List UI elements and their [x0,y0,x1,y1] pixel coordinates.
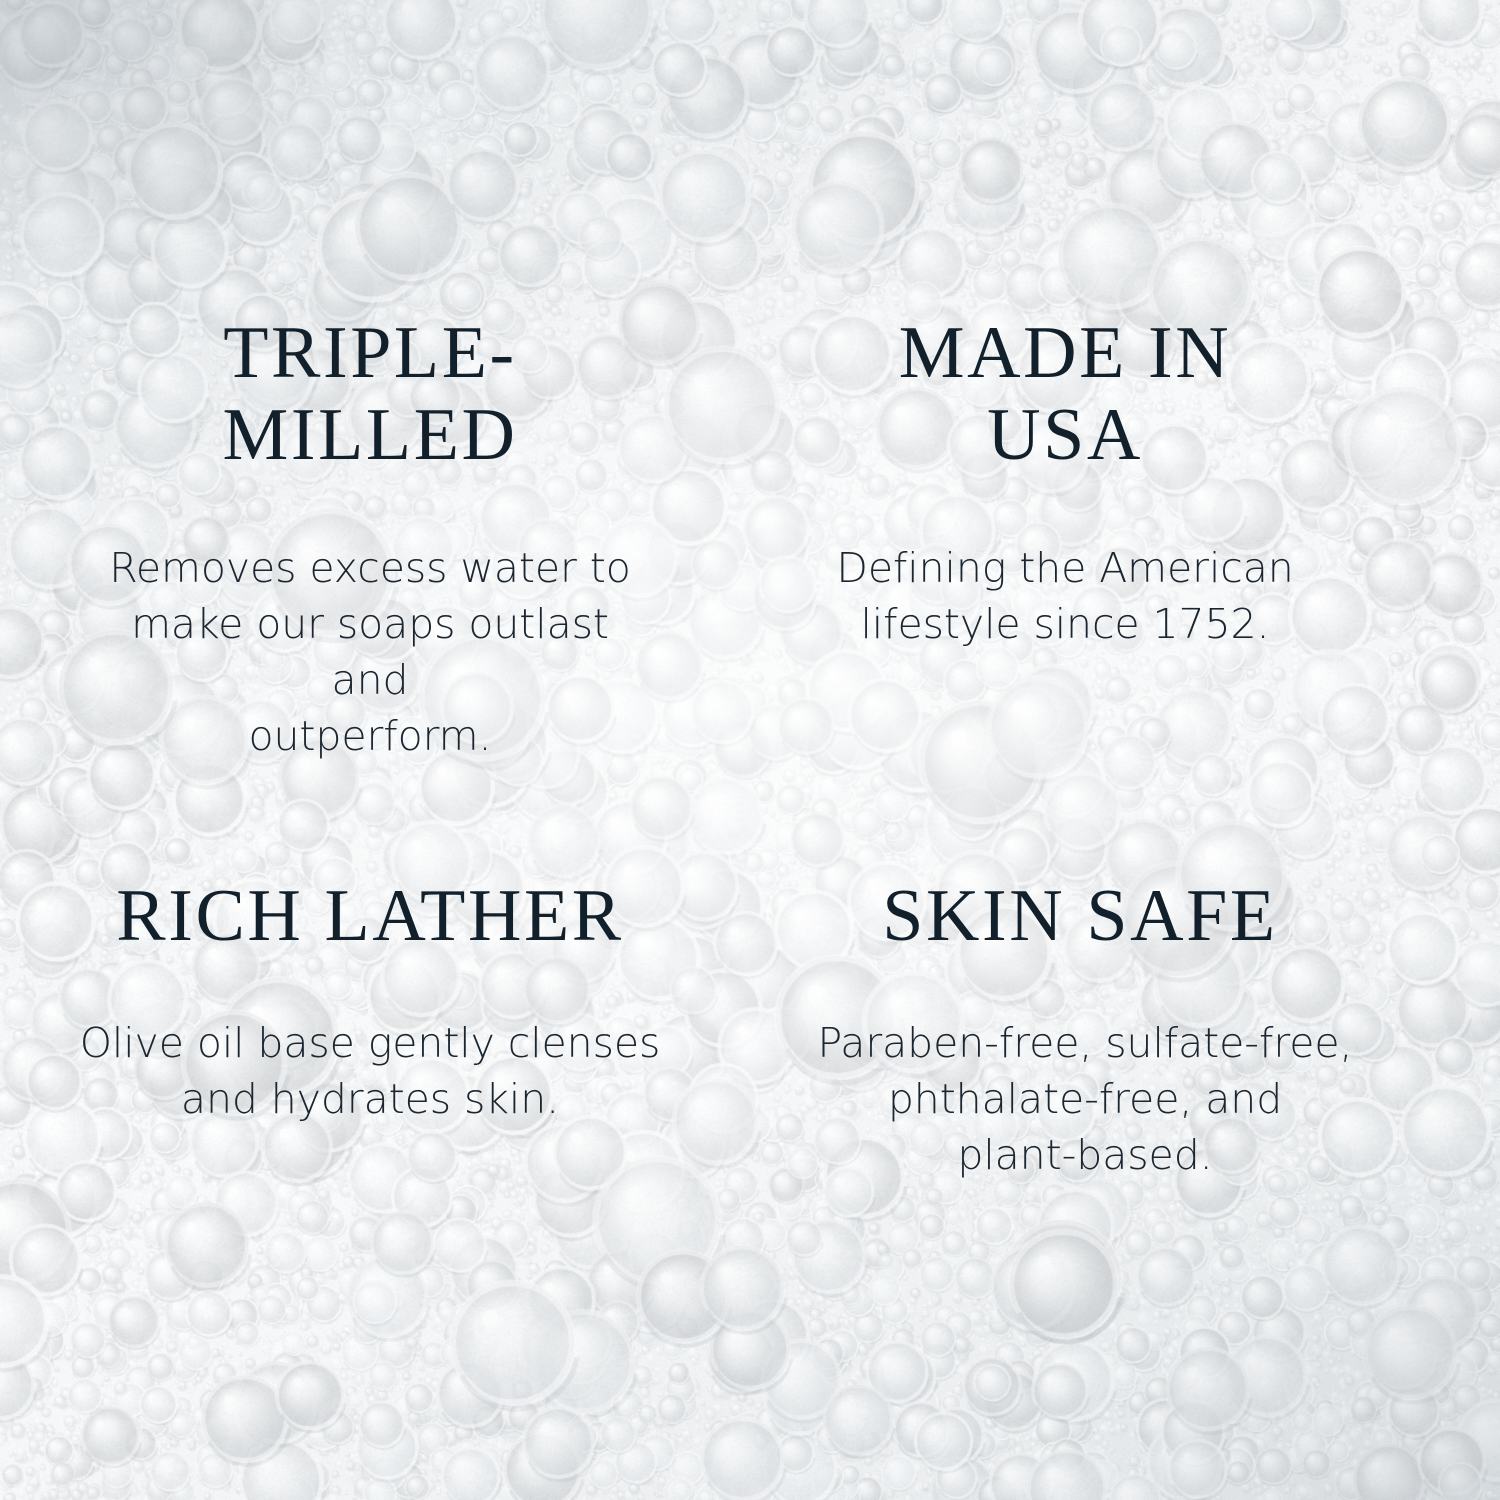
body-line: Removes excess water to [100,540,640,596]
feature-body-skin-safe: Paraben-free, sulfate-free, phthalate-fr… [750,1015,1500,1183]
body-line: Paraben-free, sulfate-free, [800,1015,1370,1071]
features-grid: TRIPLE- MILLED Removes excess water to m… [0,0,1500,1500]
feature-heading-skin-safe: SKIN SAFE [750,875,1500,957]
heading-line: SKIN SAFE [840,875,1320,957]
heading-line: USA [860,394,1270,476]
feature-body-rich-lather: Olive oil base gently clenses and hydrat… [0,1015,750,1127]
body-line: Olive oil base gently clenses [0,1015,740,1071]
feature-body-triple-milled: Removes excess water to make our soaps o… [0,540,750,764]
feature-made-in-usa: MADE IN USA Defining the American lifest… [750,0,1500,750]
heading-line: TRIPLE- [140,312,600,394]
feature-heading-made-in-usa: MADE IN USA [750,312,1500,476]
heading-line: RICH LATHER [0,875,740,957]
feature-skin-safe: SKIN SAFE Paraben-free, sulfate-free, ph… [750,750,1500,1500]
body-line: make our soaps outlast and [100,596,640,708]
body-line: phthalate-free, and [800,1071,1370,1127]
heading-line: MILLED [140,394,600,476]
product-benefits-panel: TRIPLE- MILLED Removes excess water to m… [0,0,1500,1500]
feature-body-made-in-usa: Defining the American lifestyle since 17… [750,540,1500,652]
body-line: Defining the American [800,540,1330,596]
feature-rich-lather: RICH LATHER Olive oil base gently clense… [0,750,750,1500]
heading-line: MADE IN [860,312,1270,394]
body-line: lifestyle since 1752. [800,596,1330,652]
feature-heading-triple-milled: TRIPLE- MILLED [0,312,750,476]
feature-heading-rich-lather: RICH LATHER [0,875,750,957]
feature-triple-milled: TRIPLE- MILLED Removes excess water to m… [0,0,750,750]
body-line: plant-based. [800,1127,1370,1183]
body-line: and hydrates skin. [0,1071,740,1127]
